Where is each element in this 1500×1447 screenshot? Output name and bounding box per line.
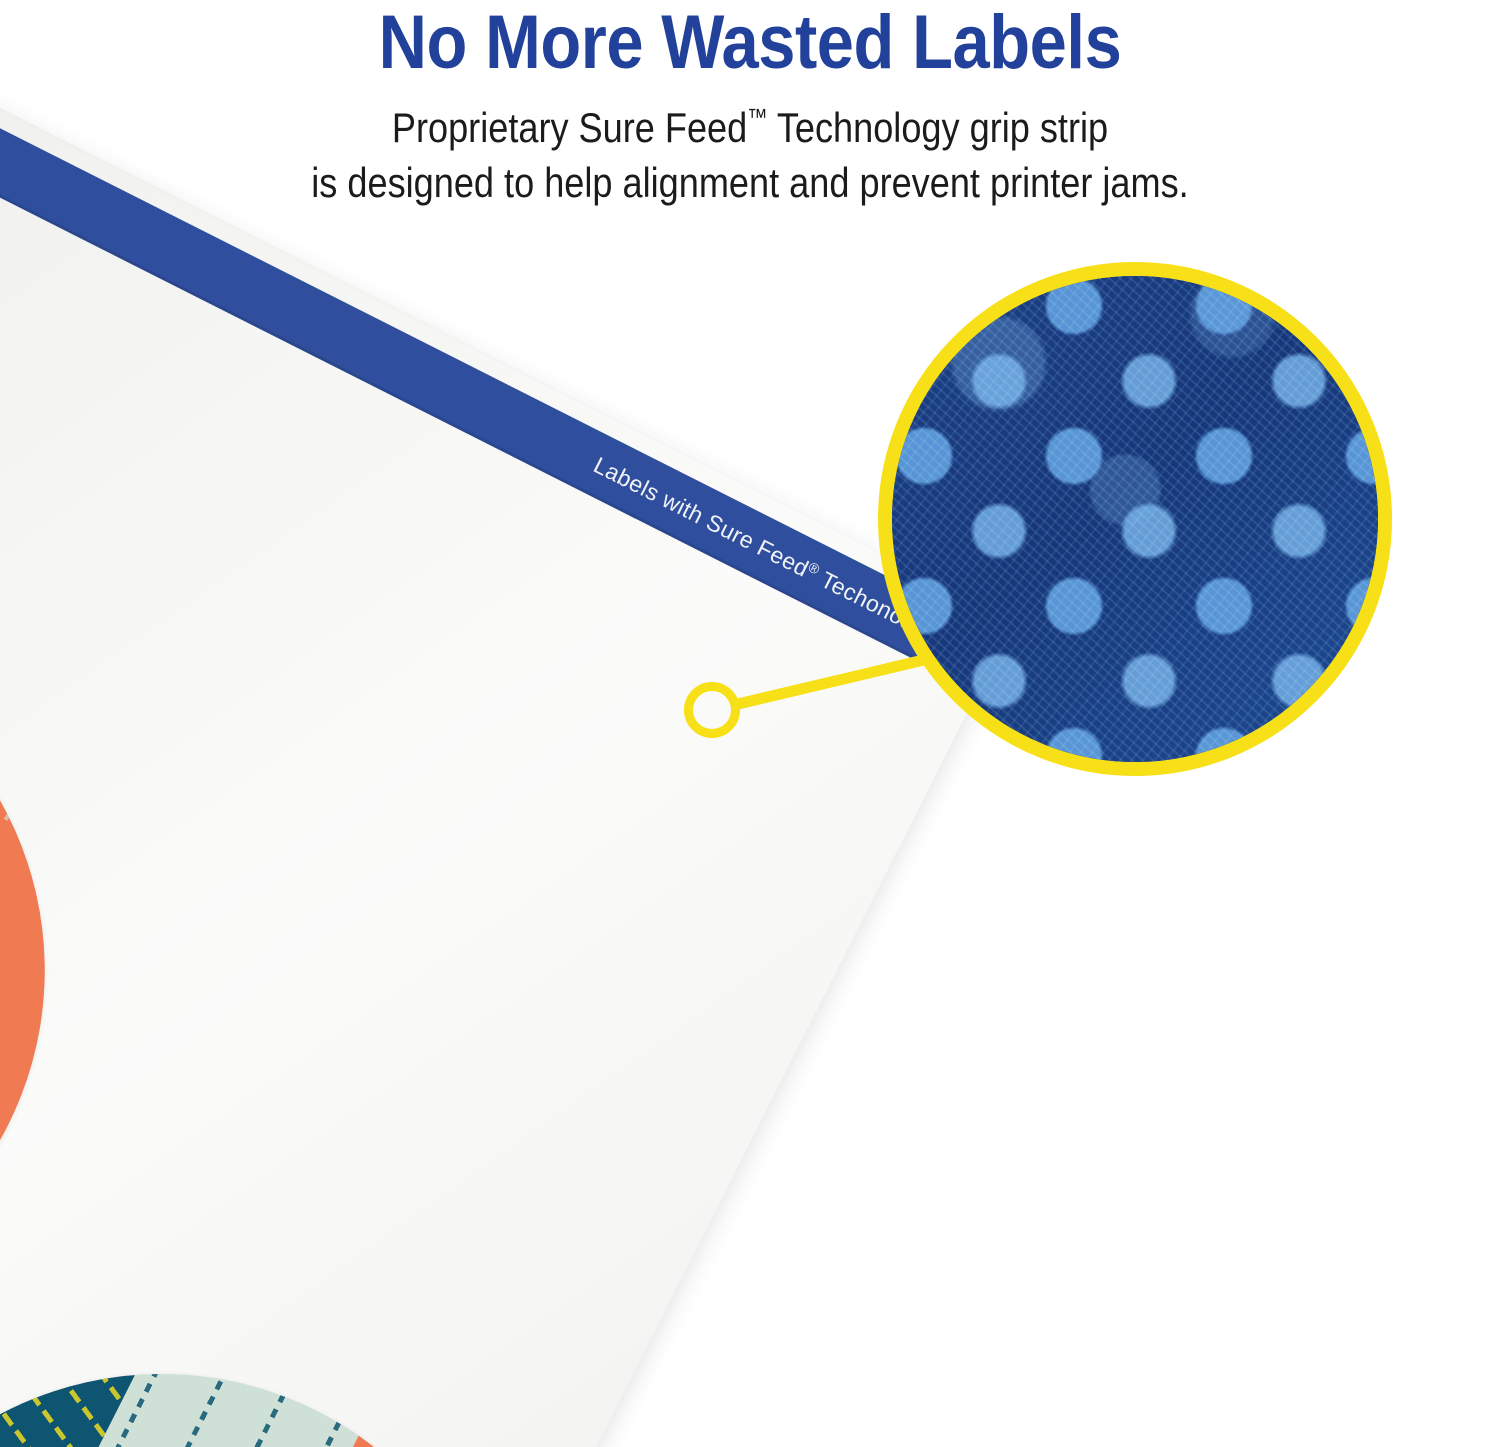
magnifier-texture-grain xyxy=(892,276,1378,762)
headline-block: No More Wasted Labels Proprietary Sure F… xyxy=(0,0,1500,210)
product-marketing-image: No More Wasted Labels Proprietary Sure F… xyxy=(0,0,1500,1447)
subtitle-line2: is designed to help alignment and preven… xyxy=(105,155,1395,210)
trademark-symbol: ™ xyxy=(747,104,767,130)
subtitle-line1-part1: Proprietary Sure Feed xyxy=(392,104,747,151)
subtitle-line1-part2: Technology grip strip xyxy=(767,104,1108,151)
label-sheet: AVERY ® Labels with Sure Feed® Techonolo… xyxy=(0,0,1014,1447)
subtitle-line1: Proprietary Sure Feed™ Technology grip s… xyxy=(392,104,1108,151)
sheet-surface: AVERY ® Labels with Sure Feed® Techonolo… xyxy=(0,0,1014,1447)
magnified-grip-strip-view xyxy=(878,262,1392,776)
round-label xyxy=(0,1256,625,1447)
caption-prefix: Labels with Sure Feed xyxy=(590,452,814,582)
page-title: No More Wasted Labels xyxy=(90,4,1410,82)
subtitle: Proprietary Sure Feed™ Technology grip s… xyxy=(105,100,1395,211)
callout-target-ring-icon xyxy=(684,682,740,738)
